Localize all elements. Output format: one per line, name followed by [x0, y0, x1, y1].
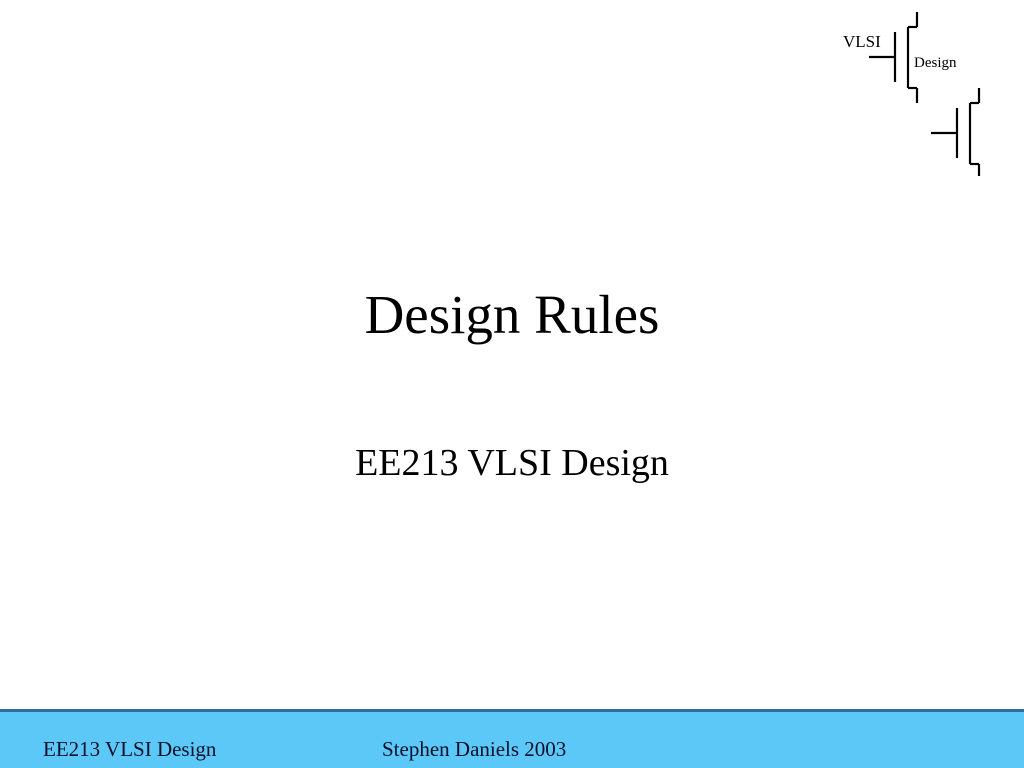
footer-course-label: EE213 VLSI Design — [43, 739, 216, 760]
logo-label-vlsi: VLSI — [843, 33, 881, 50]
vlsi-design-logo: VLSI Design — [836, 4, 1024, 176]
slide-footer-bar: EE213 VLSI Design Stephen Daniels 2003 — [0, 709, 1024, 768]
slide-subtitle: EE213 VLSI Design — [0, 443, 1024, 485]
slide-title: Design Rules — [0, 286, 1024, 344]
presentation-slide: VLSI Design Design Rules EE213 VLSI Desi… — [0, 0, 1024, 768]
mosfet-transistor-pair-icon — [836, 4, 1024, 176]
logo-label-design: Design — [914, 56, 957, 71]
footer-author-label: Stephen Daniels 2003 — [382, 739, 566, 760]
